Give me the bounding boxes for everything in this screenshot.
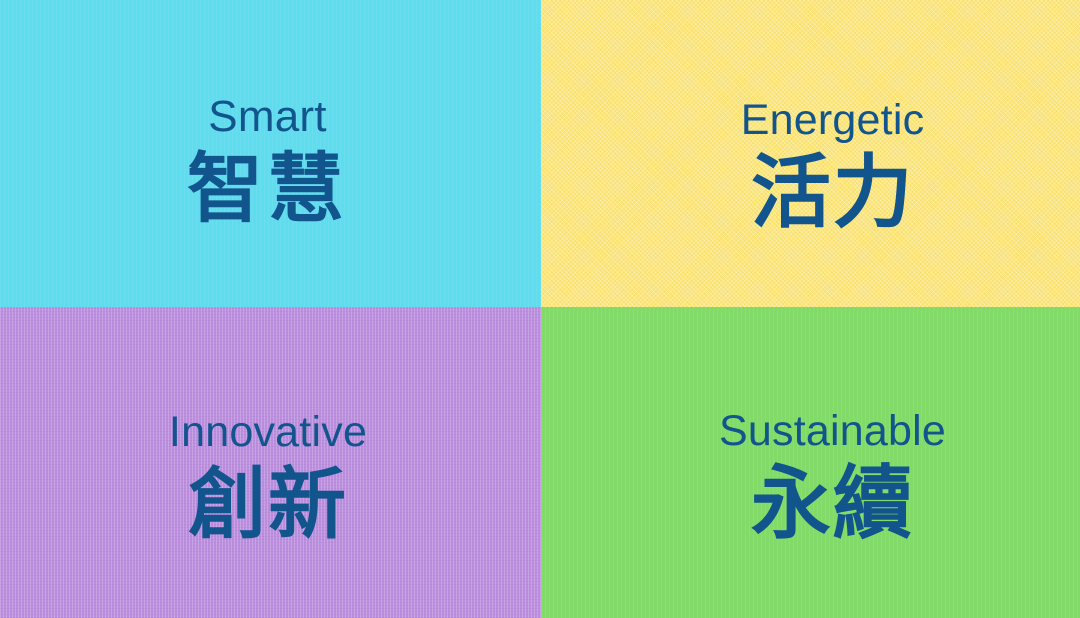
brand-values-poster: Smart 智慧 Energetic 活力 Innovative 創新 Sust… <box>0 0 1080 618</box>
quadrant-smart-label-cjk: 智慧 <box>187 151 348 227</box>
quadrant-innovative-text-block: Innovative 創新 <box>169 307 367 544</box>
quadrant-smart-text-block: Smart 智慧 <box>187 0 348 227</box>
quadrant-energetic: Energetic 活力 <box>541 0 1080 307</box>
quadrant-energetic-label-cjk: 活力 <box>741 153 925 233</box>
quadrant-innovative-label-cjk: 創新 <box>169 466 367 544</box>
quadrant-smart-label-en: Smart <box>187 95 348 139</box>
quadrant-smart: Smart 智慧 <box>0 0 541 307</box>
quadrant-sustainable-label-cjk: 永續 <box>719 464 946 544</box>
quadrant-sustainable-text-block: Sustainable 永續 <box>719 307 946 544</box>
quadrant-energetic-label-en: Energetic <box>741 99 925 142</box>
quadrant-energetic-text-block: Energetic 活力 <box>741 0 925 233</box>
quadrant-innovative-label-en: Innovative <box>169 411 367 454</box>
quadrant-sustainable-label-en: Sustainable <box>719 410 946 453</box>
quadrant-sustainable: Sustainable 永續 <box>541 307 1080 618</box>
quadrant-innovative: Innovative 創新 <box>0 307 541 618</box>
